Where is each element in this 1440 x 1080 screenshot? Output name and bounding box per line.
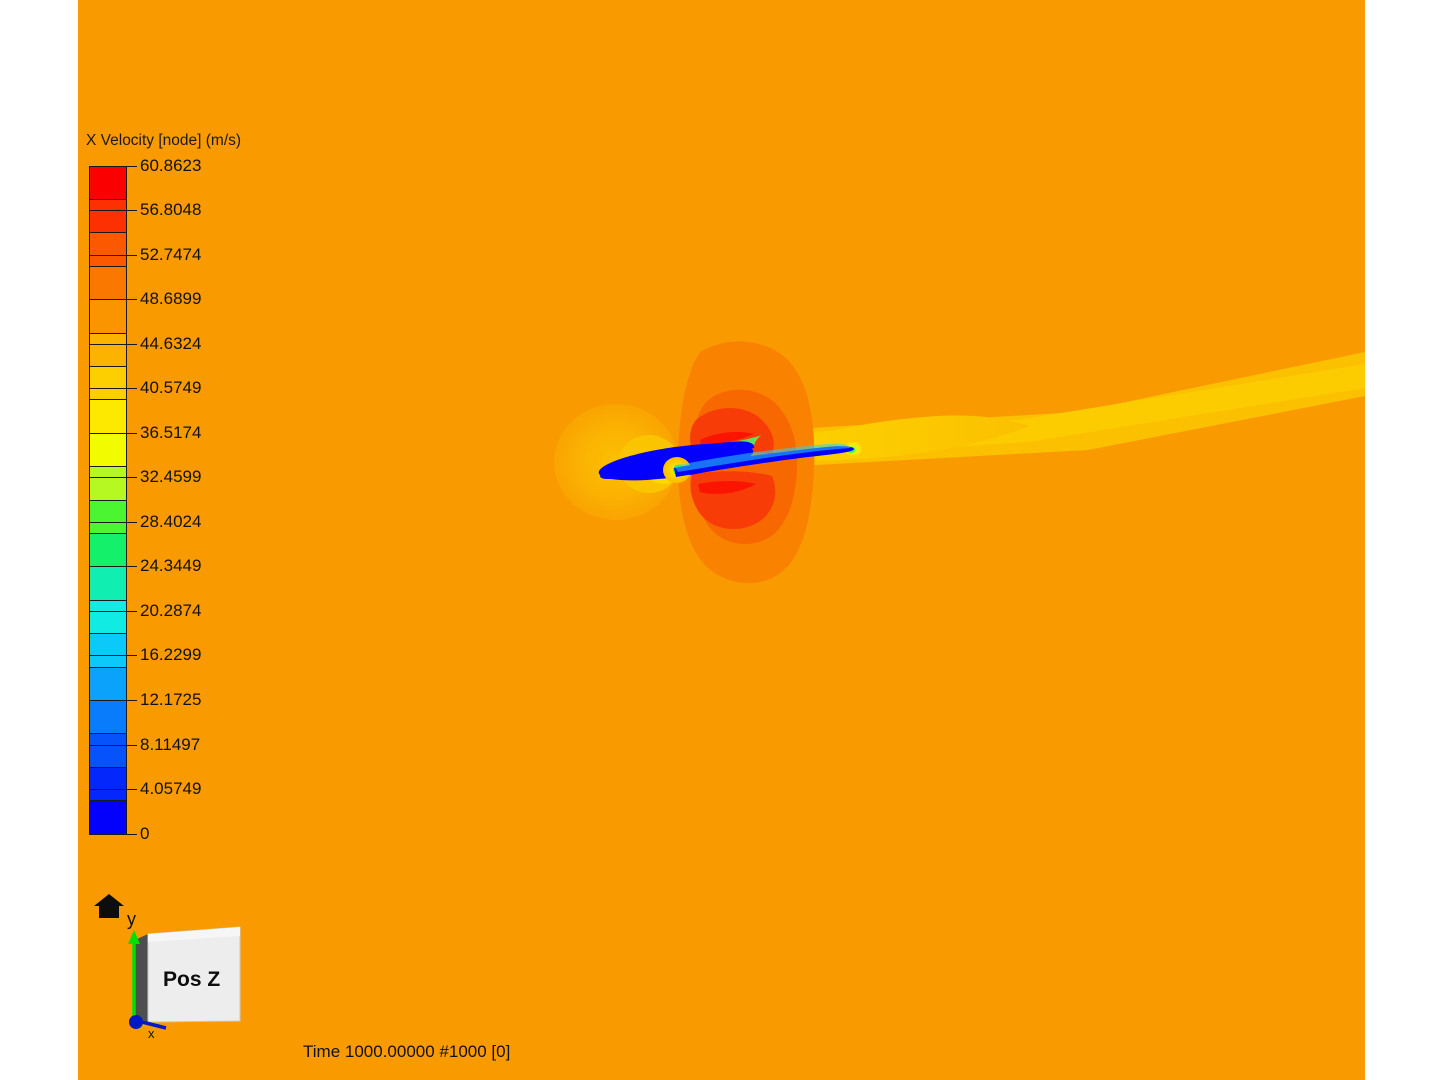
legend-swatch bbox=[89, 600, 127, 634]
legend-tick bbox=[89, 655, 137, 656]
legend-swatch bbox=[89, 433, 127, 467]
legend-tick-label: 28.4024 bbox=[140, 513, 201, 530]
legend-tick bbox=[89, 299, 137, 300]
y-axis-arrow-head bbox=[128, 930, 140, 944]
legend-tick-label: 52.7474 bbox=[140, 246, 201, 263]
legend-swatch bbox=[89, 500, 127, 534]
legend-swatch bbox=[89, 299, 127, 333]
color-legend: X Velocity [node] (m/s) 60.862356.804852… bbox=[86, 132, 316, 836]
legend-swatch bbox=[89, 767, 127, 801]
time-caption: Time 1000.00000 #1000 [0] bbox=[303, 1042, 510, 1062]
legend-swatch bbox=[89, 700, 127, 734]
legend-swatch bbox=[89, 399, 127, 433]
origin-dot bbox=[129, 1015, 143, 1029]
cfd-viewer: X Velocity [node] (m/s) 60.862356.804852… bbox=[0, 0, 1440, 1080]
legend-tick bbox=[89, 388, 137, 389]
legend-tick-label: 20.2874 bbox=[140, 602, 201, 619]
legend-swatch bbox=[89, 366, 127, 400]
legend-tick-label: 44.6324 bbox=[140, 335, 201, 352]
legend-tick-label: 32.4599 bbox=[140, 468, 201, 485]
legend-tick-label: 24.3449 bbox=[140, 558, 201, 575]
legend-tick bbox=[89, 745, 137, 746]
legend-tick-label: 36.5174 bbox=[140, 424, 201, 441]
legend-swatch bbox=[89, 333, 127, 367]
legend-swatch bbox=[89, 566, 127, 600]
legend-swatch bbox=[89, 266, 127, 300]
legend-swatch bbox=[89, 466, 127, 500]
legend-tick-label: 4.05749 bbox=[140, 780, 201, 797]
legend-tick bbox=[89, 700, 137, 701]
legend-tick bbox=[89, 522, 137, 523]
legend-tick bbox=[89, 789, 137, 790]
legend-tick-label: 8.11497 bbox=[140, 736, 200, 753]
legend-swatch bbox=[89, 232, 127, 266]
legend-tick bbox=[89, 611, 137, 612]
legend-tick-label: 40.5749 bbox=[140, 379, 201, 396]
legend-swatch bbox=[89, 733, 127, 767]
legend-tick-label: 60.8623 bbox=[140, 157, 201, 174]
orientation-widget[interactable]: y Pos Z x bbox=[88, 878, 278, 1053]
legend-tick bbox=[89, 566, 137, 567]
legend-tick bbox=[89, 166, 137, 167]
legend-swatch bbox=[89, 533, 127, 567]
legend-tick-label: 48.6899 bbox=[140, 290, 201, 307]
legend-tick-label: 16.2299 bbox=[140, 647, 201, 664]
legend-tick bbox=[89, 834, 137, 835]
legend-swatch bbox=[89, 166, 127, 200]
legend-tick-label: 0 bbox=[140, 825, 149, 842]
cube-face-label: Pos Z bbox=[163, 968, 220, 991]
legend-tick bbox=[89, 344, 137, 345]
legend-swatch bbox=[89, 199, 127, 233]
legend-swatch bbox=[89, 633, 127, 667]
legend-tick bbox=[89, 255, 137, 256]
legend-swatch bbox=[89, 667, 127, 701]
home-icon[interactable] bbox=[94, 894, 124, 918]
legend-title: X Velocity [node] (m/s) bbox=[86, 132, 316, 151]
z-axis-label: x bbox=[148, 1026, 155, 1041]
legend-tick-label: 12.1725 bbox=[140, 691, 201, 708]
orientation-widget-graphic: y Pos Z x bbox=[88, 878, 278, 1053]
legend-tick bbox=[89, 210, 137, 211]
cube-side-shade bbox=[135, 934, 148, 1022]
legend-tick-label: 56.8048 bbox=[140, 201, 201, 218]
legend-tick bbox=[89, 477, 137, 478]
y-axis-label: y bbox=[127, 909, 136, 929]
legend-swatch bbox=[89, 800, 127, 834]
legend-tick bbox=[89, 433, 137, 434]
legend-scale[interactable]: 60.862356.804852.747448.689944.632440.57… bbox=[86, 160, 306, 836]
